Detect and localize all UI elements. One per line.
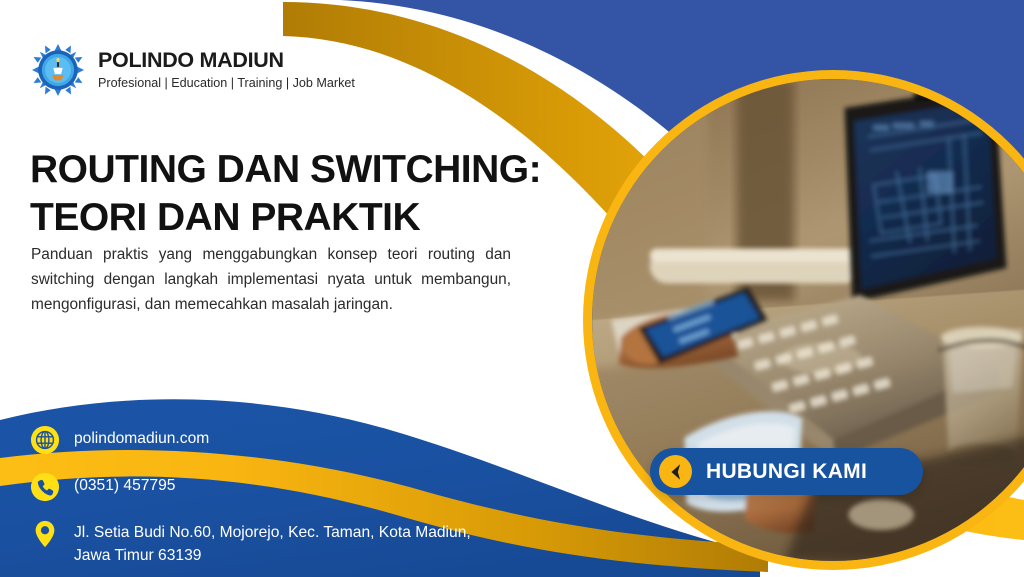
brand-text: POLINDO MADIUN Profesional | Education |… <box>98 48 355 91</box>
phone-icon <box>30 472 60 502</box>
contact-phone-label: (0351) 457795 <box>74 472 175 498</box>
location-pin-icon <box>30 519 60 549</box>
hero-description: Panduan praktis yang menggabungkan konse… <box>31 243 511 318</box>
contact-info-list: polindomadiun.com (0351) 457795 Jl. Seti… <box>30 425 500 567</box>
contact-item-website[interactable]: polindomadiun.com <box>30 425 500 455</box>
contact-item-phone[interactable]: (0351) 457795 <box>30 472 500 502</box>
brand-logo[interactable]: POLINDO MADIUN Profesional | Education |… <box>32 44 355 96</box>
contact-address-label: Jl. Setia Budi No.60, Mojorejo, Kec. Tam… <box>74 519 500 567</box>
page-title: ROUTING DAN SWITCHING: TEORI DAN PRAKTIK <box>30 146 590 241</box>
promotional-banner: POLINDO MADIUN Profesional | Education |… <box>0 0 1024 577</box>
polindo-starburst-emblem <box>32 44 84 96</box>
contact-us-button[interactable]: HUBUNGI KAMI <box>650 448 923 495</box>
brand-name: POLINDO MADIUN <box>98 48 355 72</box>
hero-photo-ring <box>583 70 1024 570</box>
arrow-left-icon <box>659 455 692 488</box>
contact-website-label: polindomadiun.com <box>74 425 209 451</box>
globe-icon <box>30 425 60 455</box>
contact-item-address[interactable]: Jl. Setia Budi No.60, Mojorejo, Kec. Tam… <box>30 519 500 567</box>
brand-tagline: Profesional | Education | Training | Job… <box>98 76 355 91</box>
contact-us-label: HUBUNGI KAMI <box>706 460 867 484</box>
